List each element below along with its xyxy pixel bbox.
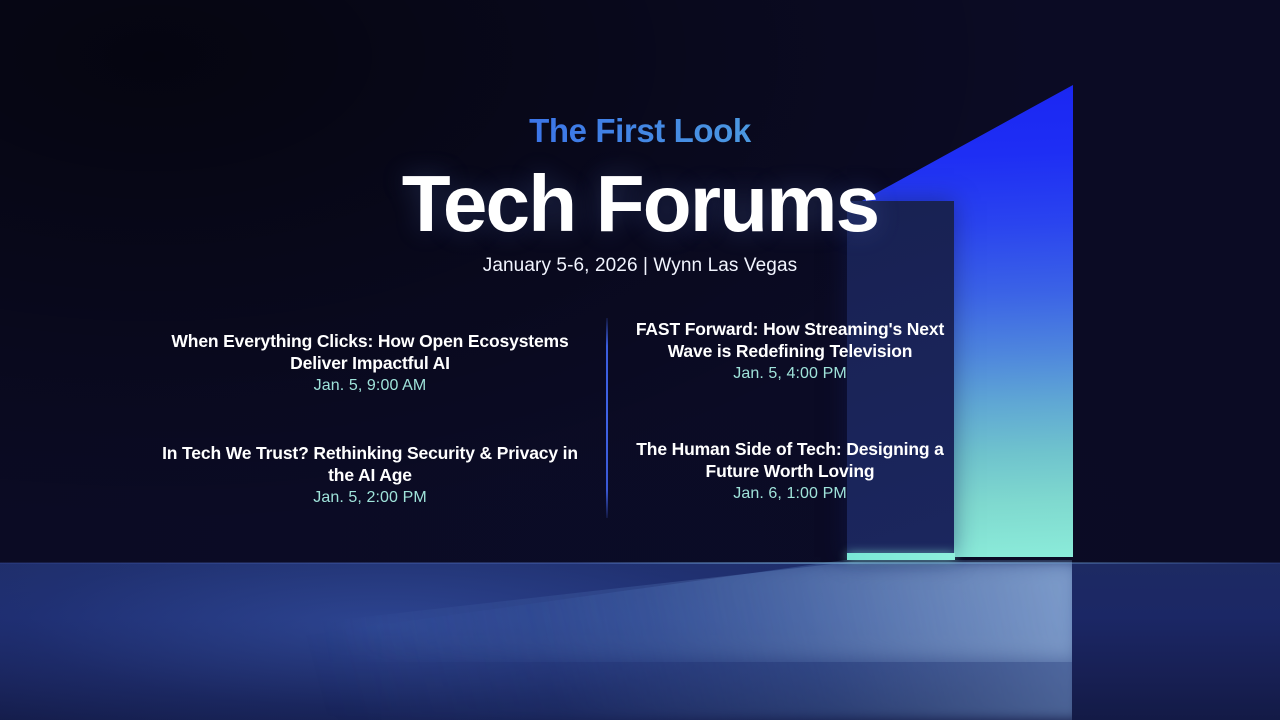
session-item[interactable]: When Everything Clicks: How Open Ecosyst… xyxy=(160,330,580,397)
session-item[interactable]: In Tech We Trust? Rethinking Security & … xyxy=(160,442,580,509)
session-item[interactable]: FAST Forward: How Streaming's Next Wave … xyxy=(620,318,960,385)
session-title: When Everything Clicks: How Open Ecosyst… xyxy=(160,330,580,374)
session-title: FAST Forward: How Streaming's Next Wave … xyxy=(620,318,960,362)
session-title: In Tech We Trust? Rethinking Security & … xyxy=(160,442,580,486)
session-time: Jan. 5, 2:00 PM xyxy=(160,487,580,509)
page-title: Tech Forums xyxy=(0,158,1280,250)
session-title: The Human Side of Tech: Designing a Futu… xyxy=(620,438,960,482)
session-item[interactable]: The Human Side of Tech: Designing a Futu… xyxy=(620,438,960,505)
column-divider xyxy=(606,318,608,518)
slide-canvas: The First Look Tech Forums January 5-6, … xyxy=(0,0,1280,720)
event-details: January 5-6, 2026 | Wynn Las Vegas xyxy=(0,255,1280,277)
session-time: Jan. 5, 9:00 AM xyxy=(160,375,580,397)
slide-content: The First Look Tech Forums January 5-6, … xyxy=(0,0,1280,720)
session-list: When Everything Clicks: How Open Ecosyst… xyxy=(150,318,970,523)
session-time: Jan. 6, 1:00 PM xyxy=(620,483,960,505)
session-time: Jan. 5, 4:00 PM xyxy=(620,363,960,385)
eyebrow-text: The First Look xyxy=(0,112,1280,150)
